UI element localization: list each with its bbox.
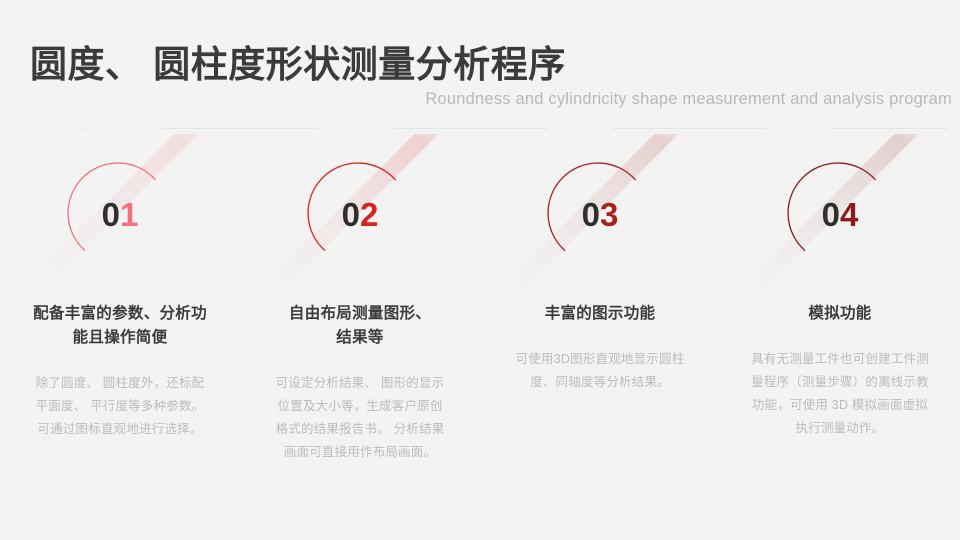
feature-heading-4: 模拟功能 (753, 302, 928, 326)
step-number-value: 2 (360, 196, 378, 234)
page-subtitle: Roundness and cylindricity shape measure… (425, 90, 952, 109)
step-badge-3: 03 (525, 140, 675, 290)
step-number-prefix: 0 (582, 196, 600, 234)
slide-root: 圆度、 圆柱度形状测量分析程序 Roundness and cylindrici… (0, 0, 960, 540)
step-number-prefix: 0 (822, 196, 840, 234)
feature-columns: 01 配备丰富的参数、分析功能且操作简便 除了圆度、 圆柱度外，还标配平面度、 … (0, 140, 960, 465)
step-number-value: 4 (840, 196, 858, 234)
feature-heading-1: 配备丰富的参数、分析功能且操作简便 (33, 302, 208, 350)
feature-body-3: 可使用3D图形直观地显示圆柱度、同轴度等分析结果。 (514, 348, 686, 394)
step-number-prefix: 0 (342, 196, 360, 234)
feature-heading-2: 自由布局测量图形、结果等 (285, 302, 435, 350)
step-badge-4: 04 (765, 140, 915, 290)
step-badge-2: 02 (285, 140, 435, 290)
divider-segment (830, 128, 948, 129)
divider-segment (163, 128, 318, 129)
feature-body-2: 可设定分析结果、 图形的显示位置及大小等，生成客户原创格式的结果报告书。 分析结… (274, 372, 446, 465)
divider-segment (78, 128, 90, 129)
feature-body-4: 具有无测量工件也可创建工件测量程序（测量步骤）的离线示教功能，可使用 3D 模拟… (747, 348, 933, 441)
feature-column-1: 01 配备丰富的参数、分析功能且操作简便 除了圆度、 圆柱度外，还标配平面度、 … (0, 140, 240, 465)
step-number-4: 04 (765, 140, 915, 290)
feature-body-1: 除了圆度、 圆柱度外，还标配平面度、 平行度等多种参数。 可通过图标直观地进行选… (34, 372, 206, 441)
divider-segment (393, 128, 548, 129)
step-number-value: 3 (600, 196, 618, 234)
divider-segment (612, 128, 767, 129)
divider-row (0, 128, 960, 130)
step-number-3: 03 (525, 140, 675, 290)
feature-column-4: 04 模拟功能 具有无测量工件也可创建工件测量程序（测量步骤）的离线示教功能，可… (720, 140, 960, 465)
feature-heading-3: 丰富的图示功能 (513, 302, 688, 326)
step-number-1: 01 (45, 140, 195, 290)
step-number-2: 02 (285, 140, 435, 290)
feature-column-3: 03 丰富的图示功能 可使用3D图形直观地显示圆柱度、同轴度等分析结果。 (480, 140, 720, 465)
step-number-prefix: 0 (102, 196, 120, 234)
feature-column-2: 02 自由布局测量图形、结果等 可设定分析结果、 图形的显示位置及大小等，生成客… (240, 140, 480, 465)
step-number-value: 1 (120, 196, 138, 234)
page-title: 圆度、 圆柱度形状测量分析程序 (30, 34, 566, 88)
step-badge-1: 01 (45, 140, 195, 290)
